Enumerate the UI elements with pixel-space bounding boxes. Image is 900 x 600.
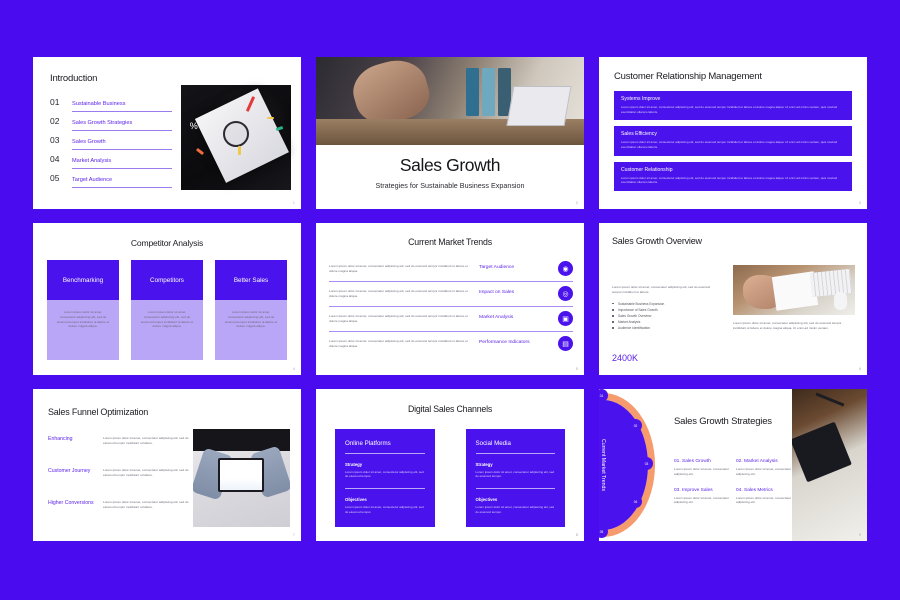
chart-image-icon: ▣ bbox=[558, 311, 573, 326]
page-title: Introduction bbox=[50, 73, 97, 84]
slide-digital-channels[interactable]: Digital Sales Channels Online Platforms … bbox=[316, 389, 584, 541]
tablet-photo bbox=[193, 429, 290, 527]
slide-crm[interactable]: Customer Relationship Management Systems… bbox=[599, 57, 867, 209]
digital-card[interactable]: Online Platforms Strategy Lorem ipsum do… bbox=[335, 429, 435, 527]
item-number: 03 bbox=[50, 135, 64, 145]
decor-chip bbox=[267, 117, 274, 120]
trend-body: Lorem ipsum dolor sit amet, consectetur … bbox=[329, 339, 472, 349]
digital-card[interactable]: Social Media Strategy Lorem ipsum dolor … bbox=[466, 429, 566, 527]
page-title: Current Market Trends bbox=[316, 237, 584, 247]
item-number: 01 bbox=[50, 97, 64, 107]
slide-funnel-optimization[interactable]: Sales Funnel Optimization Enhancing Lore… bbox=[33, 389, 301, 541]
funnel-body: Lorem ipsum dolor sit amet, consectetur … bbox=[103, 500, 194, 532]
divider bbox=[476, 488, 556, 489]
objectives-body: Lorem ipsum dolor sit amet, consectetur … bbox=[476, 505, 556, 514]
funnel-row[interactable]: Customer Journey Lorem ipsum dolor sit a… bbox=[48, 468, 194, 500]
slide-growth-strategies[interactable]: Current Market Trends 01 02 03 04 05 Sal… bbox=[599, 389, 867, 541]
bar-body: Lorem ipsum dolor sit amet, consectetur … bbox=[621, 176, 845, 185]
trend-row[interactable]: Lorem ipsum dolor sit amet, consectetur … bbox=[329, 282, 573, 307]
crm-bar-list: Systems Improve Lorem ipsum dolor sit am… bbox=[614, 91, 852, 197]
divider bbox=[345, 453, 425, 454]
item-body: Lorem ipsum dolor sit amet, consectetur … bbox=[736, 496, 792, 506]
funnel-row[interactable]: Enhancing Lorem ipsum dolor sit amet, co… bbox=[48, 436, 194, 468]
item-label: Sales Growth bbox=[72, 139, 172, 150]
list-item[interactable]: 03 Sales Growth bbox=[50, 135, 172, 154]
target-audience-icon: ◉ bbox=[558, 261, 573, 276]
item-heading: 02. Market Analysis bbox=[736, 459, 792, 464]
page-subtitle: Strategies for Sustainable Business Expa… bbox=[316, 181, 584, 190]
circular-diagram: Current Market Trends 01 02 03 04 05 bbox=[599, 393, 655, 537]
competitor-card-row: Benchmarking Lorem ipsum dolor sit amet,… bbox=[47, 260, 287, 360]
bar-heading: Sales Efficiency bbox=[621, 131, 845, 137]
trend-name: Market Analysis bbox=[479, 315, 551, 321]
percent-icon: % bbox=[190, 121, 198, 131]
list-item[interactable]: 05 Target Audience bbox=[50, 173, 172, 192]
list-item[interactable]: 04 Market Analysis bbox=[50, 154, 172, 173]
page-title: Sales Growth bbox=[316, 155, 584, 176]
objectives-label: Objectives bbox=[476, 497, 556, 502]
competitor-card[interactable]: Better Sales Lorem ipsum dolor sit amet,… bbox=[215, 260, 287, 360]
item-number: 02 bbox=[50, 116, 64, 126]
competitor-card[interactable]: Competitors Lorem ipsum dolor sit amet, … bbox=[131, 260, 203, 360]
trend-row[interactable]: Lorem ipsum dolor sit amet, consectetur … bbox=[329, 307, 573, 332]
overview-intro: Lorem ipsum dolor sit amet, consectetur … bbox=[612, 285, 712, 295]
objectives-body: Lorem ipsum dolor sit amet, consectetur … bbox=[345, 505, 425, 514]
hero-photo bbox=[316, 57, 584, 145]
item-body: Lorem ipsum dolor sit amet, consectetur … bbox=[674, 467, 730, 477]
digital-card-row: Online Platforms Strategy Lorem ipsum do… bbox=[335, 429, 565, 527]
strategy-item[interactable]: 03. Improve Sales Lorem ipsum dolor sit … bbox=[674, 488, 730, 506]
item-label: Sustainable Business bbox=[72, 101, 172, 112]
item-label: Target Audience bbox=[72, 177, 172, 188]
funnel-name: Enhancing bbox=[48, 436, 94, 468]
strategy-label: Strategy bbox=[345, 462, 425, 467]
page-number: 3 bbox=[859, 201, 861, 205]
item-number: 05 bbox=[50, 173, 64, 183]
mouse bbox=[834, 292, 847, 310]
decor-chip bbox=[246, 96, 255, 112]
funnel-row-list: Enhancing Lorem ipsum dolor sit amet, co… bbox=[48, 436, 194, 532]
tablet-device bbox=[792, 421, 851, 482]
objectives-label: Objectives bbox=[345, 497, 425, 502]
trends-row-list: Lorem ipsum dolor sit amet, consectetur … bbox=[329, 257, 573, 356]
page-number: 9 bbox=[859, 533, 861, 537]
card-body: Lorem ipsum dolor sit amet, consectetur … bbox=[224, 310, 278, 329]
step-badge[interactable]: 03 bbox=[640, 457, 653, 470]
decor-chip bbox=[275, 126, 283, 131]
trend-row[interactable]: Lorem ipsum dolor sit amet, consectetur … bbox=[329, 257, 573, 282]
performance-indicators-icon: ▤ bbox=[558, 336, 573, 351]
strategy-item[interactable]: 04. Sales Metrics Lorem ipsum dolor sit … bbox=[736, 488, 792, 506]
bar-heading: Customer Relationship bbox=[621, 167, 845, 173]
funnel-name: Customer Journey bbox=[48, 468, 94, 500]
arc-label: Current Market Trends bbox=[600, 439, 606, 491]
metric-value: 2400K bbox=[612, 353, 638, 363]
introduction-list: 01 Sustainable Business 02 Sales Growth … bbox=[50, 97, 172, 192]
step-badge[interactable]: 04 bbox=[629, 495, 642, 508]
impact-sales-icon: ◎ bbox=[558, 286, 573, 301]
slide-competitor-analysis[interactable]: Competitor Analysis Benchmarking Lorem i… bbox=[33, 223, 301, 375]
keyboard bbox=[810, 269, 852, 297]
page-number: 1 bbox=[293, 201, 295, 205]
page-title: Customer Relationship Management bbox=[614, 71, 762, 82]
trend-body: Lorem ipsum dolor sit amet, consectetur … bbox=[329, 289, 472, 299]
step-badge[interactable]: 02 bbox=[629, 419, 642, 432]
slide-introduction[interactable]: Introduction 01 Sustainable Business 02 … bbox=[33, 57, 301, 209]
list-item[interactable]: 02 Sales Growth Strategies bbox=[50, 116, 172, 135]
item-number: 04 bbox=[50, 154, 64, 164]
page-title: Digital Sales Channels bbox=[316, 404, 584, 414]
image-caption: Lorem ipsum dolor sit amet, consectetur … bbox=[733, 321, 855, 331]
card-body: Lorem ipsum dolor sit amet, consectetur … bbox=[140, 310, 194, 329]
slide-market-trends[interactable]: Current Market Trends Lorem ipsum dolor … bbox=[316, 223, 584, 375]
trend-name: Target Audience bbox=[479, 265, 551, 271]
bar-body: Lorem ipsum dolor sit amet, consectetur … bbox=[621, 105, 845, 114]
item-label: Market Analysis bbox=[72, 158, 172, 169]
desk-tablet-photo bbox=[792, 389, 867, 541]
page-title: Sales Funnel Optimization bbox=[48, 407, 148, 417]
item-heading: 01. Sales Growth bbox=[674, 459, 730, 464]
card-heading: Social Media bbox=[476, 440, 556, 453]
page-number: 2 bbox=[576, 201, 578, 205]
trend-name: Performance Indicators bbox=[479, 340, 551, 346]
item-body: Lorem ipsum dolor sit amet, consectetur … bbox=[736, 467, 792, 477]
list-item[interactable]: 01 Sustainable Business bbox=[50, 97, 172, 116]
trend-body: Lorem ipsum dolor sit amet, consectetur … bbox=[329, 314, 472, 324]
card-caption: Competitors bbox=[131, 260, 203, 300]
pen bbox=[815, 393, 844, 407]
strategy-item-grid: 01. Sales Growth Lorem ipsum dolor sit a… bbox=[674, 459, 792, 505]
page-number: 4 bbox=[293, 367, 295, 371]
item-body: Lorem ipsum dolor sit amet, consectetur … bbox=[674, 496, 730, 506]
item-heading: 03. Improve Sales bbox=[674, 488, 730, 493]
book-spine bbox=[482, 68, 495, 116]
funnel-body: Lorem ipsum dolor sit amet, consectetur … bbox=[103, 468, 194, 500]
divider bbox=[345, 488, 425, 489]
overview-bullet-list: Sustainable Business Expansion Importanc… bbox=[612, 301, 712, 331]
decor-chip bbox=[196, 148, 204, 155]
card-caption: Better Sales bbox=[215, 260, 287, 300]
trend-body: Lorem ipsum dolor sit amet, consectetur … bbox=[329, 264, 472, 274]
funnel-body: Lorem ipsum dolor sit amet, consectetur … bbox=[103, 436, 194, 468]
overview-left-column: Lorem ipsum dolor sit amet, consectetur … bbox=[612, 285, 712, 331]
crm-bar[interactable]: Systems Improve Lorem ipsum dolor sit am… bbox=[614, 91, 852, 120]
item-label: Sales Growth Strategies bbox=[72, 120, 172, 131]
strategy-item[interactable]: 02. Market Analysis Lorem ipsum dolor si… bbox=[736, 459, 792, 477]
card-heading: Online Platforms bbox=[345, 440, 425, 453]
funnel-row[interactable]: Higher Conversions Lorem ipsum dolor sit… bbox=[48, 500, 194, 532]
strategy-body: Lorem ipsum dolor sit amet, consectetur … bbox=[476, 470, 556, 479]
strategy-body: Lorem ipsum dolor sit amet, consectetur … bbox=[345, 470, 425, 479]
divider bbox=[476, 453, 556, 454]
decor-chip bbox=[238, 146, 241, 155]
bullet-item: Audience Identification bbox=[612, 325, 712, 331]
crm-bar[interactable]: Sales Efficiency Lorem ipsum dolor sit a… bbox=[614, 126, 852, 155]
page-number: 5 bbox=[576, 367, 578, 371]
strategy-label: Strategy bbox=[476, 462, 556, 467]
strategy-item[interactable]: 01. Sales Growth Lorem ipsum dolor sit a… bbox=[674, 459, 730, 477]
slide-title[interactable]: Sales Growth Strategies for Sustainable … bbox=[316, 57, 584, 209]
trend-name: Impact on Sales bbox=[479, 290, 551, 296]
trend-row[interactable]: Lorem ipsum dolor sit amet, consectetur … bbox=[329, 332, 573, 356]
flatlay-photo: % bbox=[181, 85, 291, 190]
card-body: Lorem ipsum dolor sit amet, consectetur … bbox=[56, 310, 110, 329]
item-heading: 04. Sales Metrics bbox=[736, 488, 792, 493]
crm-bar[interactable]: Customer Relationship Lorem ipsum dolor … bbox=[614, 162, 852, 191]
page-number: 8 bbox=[576, 533, 578, 537]
bar-heading: Systems Improve bbox=[621, 96, 845, 102]
page-title: Sales Growth Strategies bbox=[674, 416, 772, 427]
page-number: 6 bbox=[859, 367, 861, 371]
bar-body: Lorem ipsum dolor sit amet, consectetur … bbox=[621, 140, 845, 149]
card-caption: Benchmarking bbox=[47, 260, 119, 300]
slide-deck-grid: Introduction 01 Sustainable Business 02 … bbox=[33, 57, 867, 541]
slide-growth-overview[interactable]: Sales Growth Overview Lorem ipsum dolor … bbox=[599, 223, 867, 375]
competitor-card[interactable]: Benchmarking Lorem ipsum dolor sit amet,… bbox=[47, 260, 119, 360]
desk-photo bbox=[733, 265, 855, 315]
page-number: 7 bbox=[293, 533, 295, 537]
funnel-name: Higher Conversions bbox=[48, 500, 94, 532]
laptop bbox=[506, 86, 571, 126]
page-title: Competitor Analysis bbox=[33, 238, 301, 248]
page-title: Sales Growth Overview bbox=[612, 236, 702, 246]
tablet-device bbox=[218, 458, 264, 492]
book-spine bbox=[466, 68, 479, 116]
